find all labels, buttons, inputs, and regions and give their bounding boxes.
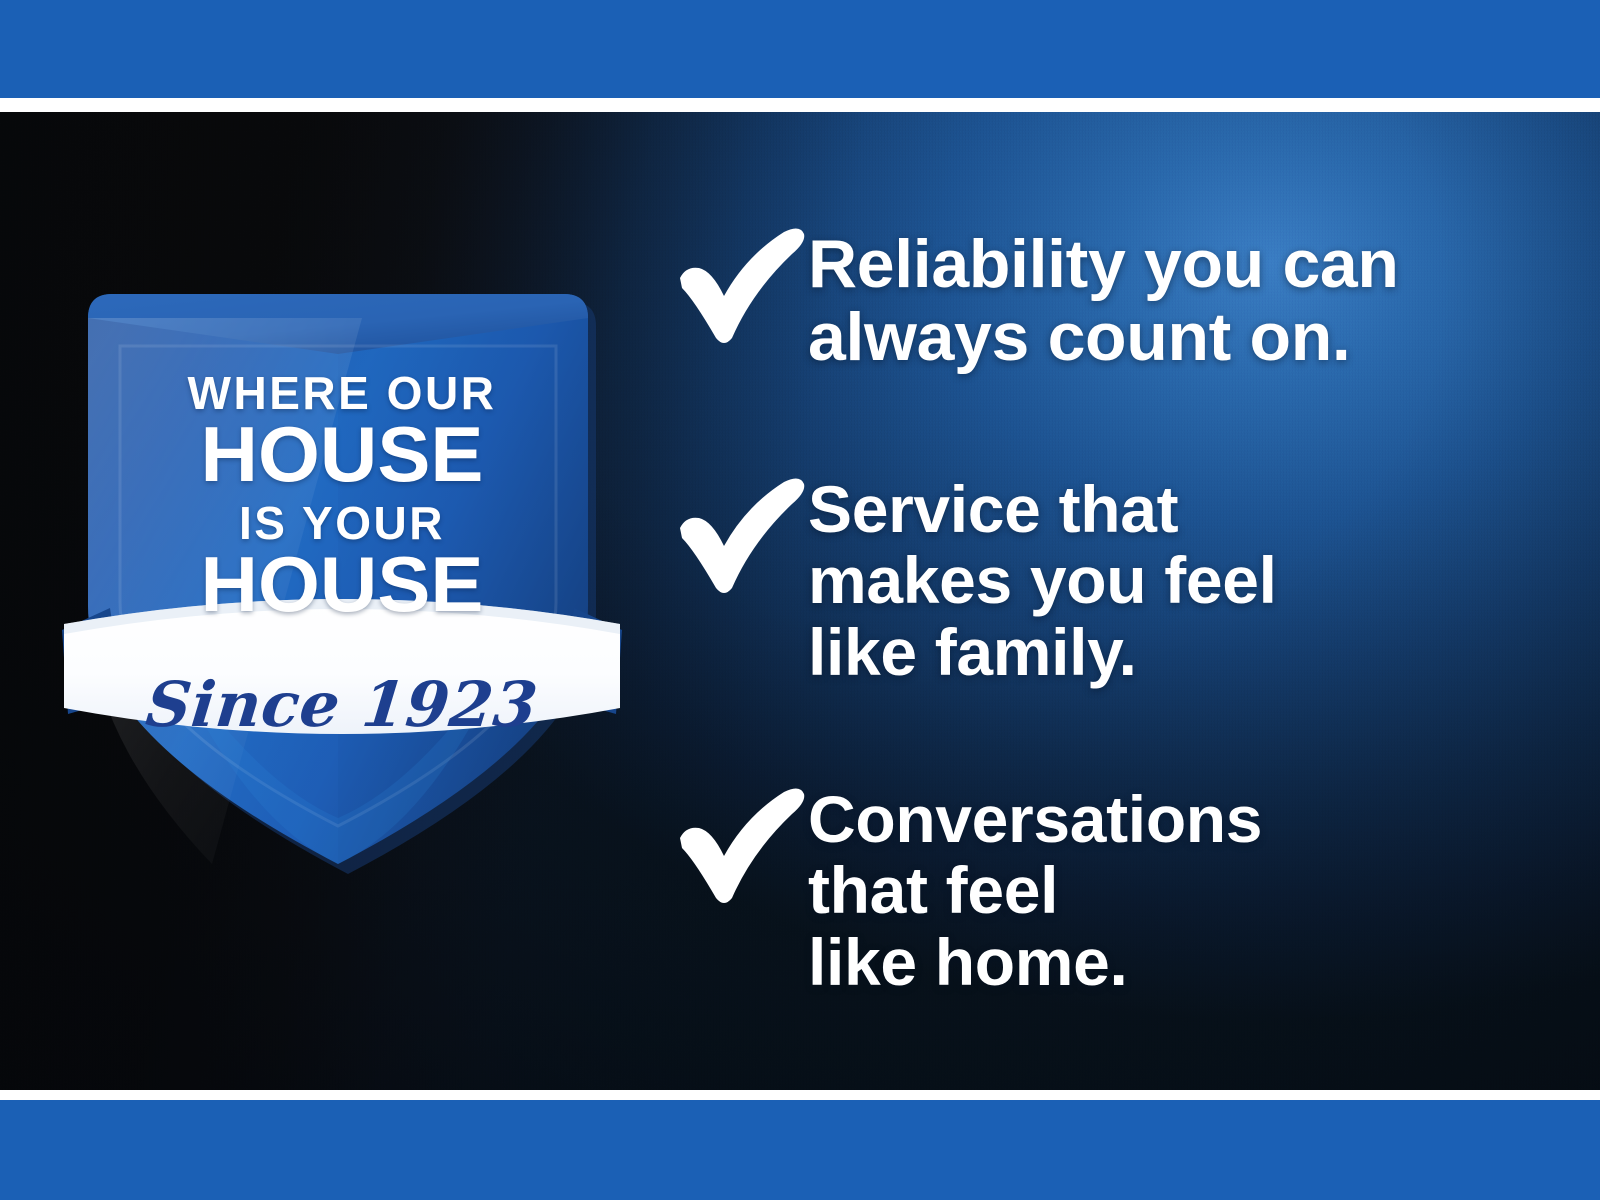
shield-graphic [62,178,622,838]
check-icon [672,226,808,346]
benefit-text: Service that makes you feel like family. [808,474,1277,688]
benefits-list: Reliability you can always count on. Ser… [672,112,1572,1090]
shield-right-facet [338,318,588,864]
benefit-item: Reliability you can always count on. [672,222,1399,375]
bottom-brand-bar [0,1100,1600,1200]
top-white-rule [0,98,1600,112]
benefit-text: Conversations that feel like home. [808,784,1262,998]
bottom-white-rule [0,1090,1600,1100]
brand-badge: WHERE OUR HOUSE IS YOUR HOUSE Since 1923 [62,178,622,838]
top-brand-bar [0,0,1600,98]
benefit-item: Conversations that feel like home. [672,782,1262,998]
benefit-item: Service that makes you feel like family. [672,472,1277,688]
check-icon [672,786,808,906]
benefit-text: Reliability you can always count on. [808,228,1399,375]
check-icon [672,476,808,596]
promo-graphic: WHERE OUR HOUSE IS YOUR HOUSE Since 1923… [0,0,1600,1200]
